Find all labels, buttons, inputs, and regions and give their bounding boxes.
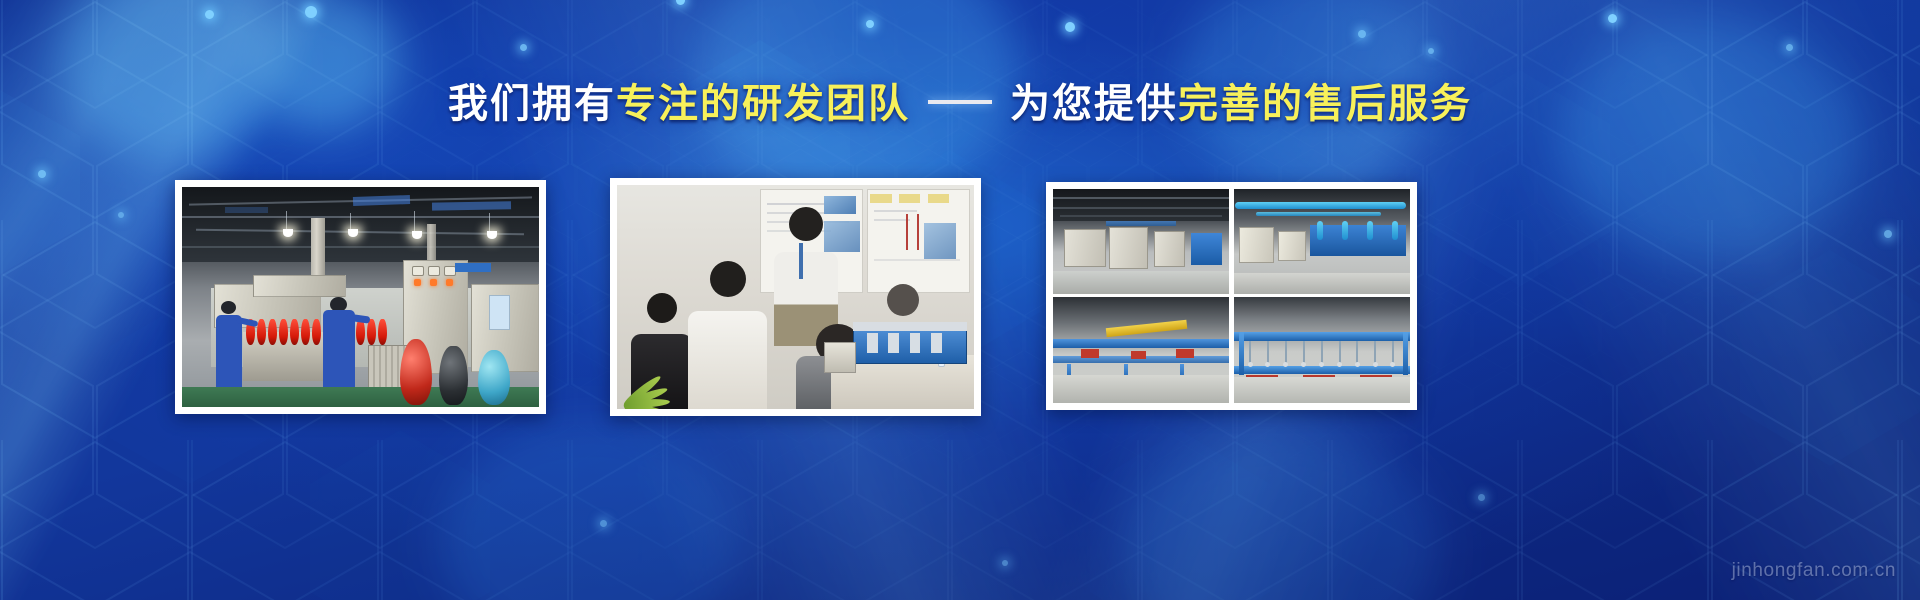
- banner-headline: 我们拥有专注的研发团队为您提供完善的售后服务: [0, 84, 1920, 124]
- headline-segment-4: 完善的售后服务: [1178, 82, 1472, 126]
- photo-card-team-meeting[interactable]: [610, 178, 981, 416]
- collage-quadrant-top-left: [1053, 189, 1229, 294]
- photo-production-line: [182, 187, 539, 407]
- headline-dash-separator: [928, 100, 992, 104]
- collage-quadrant-bottom-left: [1053, 296, 1229, 403]
- photo-team-meeting: [617, 185, 974, 409]
- collage-quadrant-bottom-right: [1232, 296, 1411, 403]
- photo-card-facility-collage[interactable]: [1046, 182, 1417, 410]
- hero-banner: 我们拥有专注的研发团队为您提供完善的售后服务: [0, 0, 1920, 600]
- collage-quadrant-top-right: [1232, 189, 1411, 294]
- photo-facility-collage: [1053, 189, 1410, 403]
- site-watermark: jinhongfan.com.cn: [1732, 560, 1896, 582]
- photo-card-production-line[interactable]: [175, 180, 546, 414]
- headline-segment-2: 专注的研发团队: [616, 82, 910, 126]
- headline-segment-1: 我们拥有: [448, 82, 616, 126]
- potted-plant: [624, 342, 670, 409]
- person-seated-center: [688, 261, 767, 409]
- headline-segment-3: 为您提供: [1010, 82, 1178, 126]
